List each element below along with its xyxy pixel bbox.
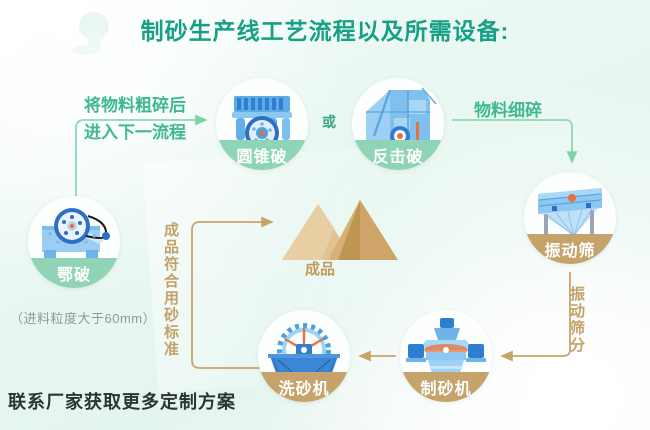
node-label-vibrating-screen: 振动筛 [524,234,616,264]
node-sand-maker[interactable]: 制砂机 [400,310,492,402]
label-fine-crushing: 物料细碎 [474,96,542,121]
node-label-cone-crusher: 圆锥破 [216,140,308,170]
label-feed-size-note: （进料粒度大于60mm） [10,308,156,327]
infographic-canvas: 制砂生产线工艺流程以及所需设备: 将物料粗碎后 进入下一流程 物料细碎 或 （进… [0,0,650,430]
label-coarse-line1: 将物料粗碎后 [84,92,186,119]
label-coarse-line2: 进入下一流程 [84,119,186,146]
label-sieving-vertical: 振动筛分 [566,286,587,354]
node-sand-washer[interactable]: 洗砂机 [258,310,350,402]
finished-product-pile-icon [282,198,406,260]
label-or: 或 [322,112,336,132]
label-coarse-crushing: 将物料粗碎后 进入下一流程 [84,92,186,146]
node-impact-crusher[interactable]: 反击破 [352,78,444,170]
connector-screen-to-maker [502,272,570,356]
node-cone-crusher[interactable]: 圆锥破 [216,78,308,170]
connector-impact-to-screen [452,120,572,162]
node-vibrating-screen[interactable]: 振动筛 [524,172,616,264]
label-finished-product: 成品 [305,258,335,279]
node-label-jaw-crusher: 鄂破 [28,258,120,288]
node-jaw-crusher[interactable]: 鄂破 [28,196,120,288]
node-label-sand-maker: 制砂机 [400,372,492,402]
node-label-sand-washer: 洗砂机 [258,372,350,402]
label-sand-standard-vertical: 成品符合用砂标准 [160,222,181,358]
page-title: 制砂生产线工艺流程以及所需设备: [0,12,650,46]
node-label-impact-crusher: 反击破 [352,140,444,170]
cta-contact-manufacturer[interactable]: 联系厂家获取更多定制方案 [8,388,236,414]
